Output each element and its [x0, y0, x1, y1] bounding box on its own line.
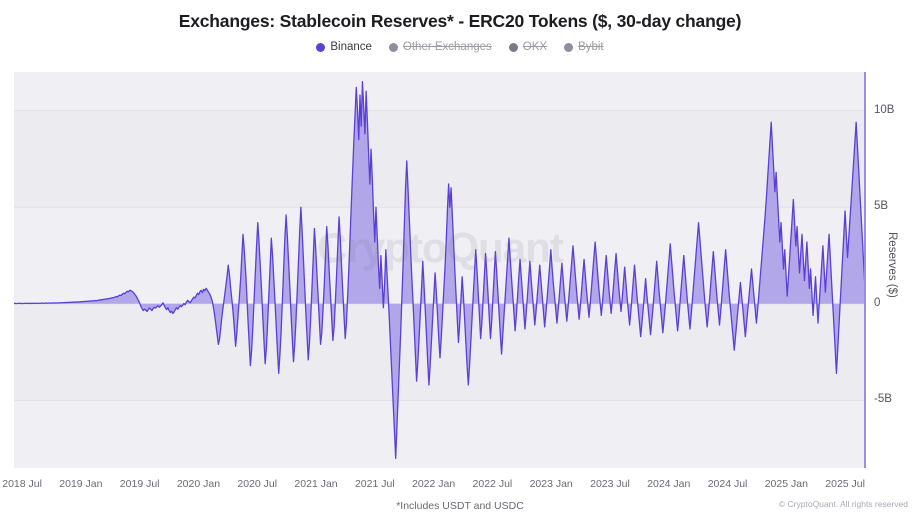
x-axis-labels: 2018 Jul2019 Jan2019 Jul2020 Jan2020 Jul…	[0, 478, 920, 494]
chart-legend: BinanceOther ExchangesOKXBybit	[0, 41, 920, 53]
chart-plot-svg	[14, 72, 866, 468]
x-axis-tick-label: 2021 Jan	[294, 478, 337, 490]
legend-item-okx[interactable]: OKX	[509, 41, 547, 53]
legend-item-label: OKX	[523, 41, 547, 53]
y-axis-tick-label: 10B	[874, 104, 894, 116]
y-axis-tick-label: -5B	[874, 393, 892, 405]
x-axis-tick-label: 2020 Jan	[177, 478, 220, 490]
legend-item-bybit[interactable]: Bybit	[564, 41, 604, 53]
legend-color-dot	[389, 43, 398, 52]
x-axis-tick-label: 2022 Jan	[412, 478, 455, 490]
x-axis-tick-label: 2021 Jul	[355, 478, 395, 490]
chart-title: Exchanges: Stablecoin Reserves* - ERC20 …	[0, 11, 920, 32]
y-axis-title: Reserves ($)	[886, 232, 898, 298]
copyright-notice: © CryptoQuant. All rights reserved	[779, 499, 908, 509]
x-axis-tick-label: 2024 Jul	[708, 478, 748, 490]
x-axis-tick-label: 2020 Jul	[237, 478, 277, 490]
x-axis-tick-label: 2024 Jan	[647, 478, 690, 490]
legend-color-dot	[316, 43, 325, 52]
plot-band	[14, 111, 866, 208]
x-axis-tick-label: 2019 Jul	[120, 478, 160, 490]
legend-item-label: Bybit	[578, 41, 604, 53]
plot-area: CryptoQuant	[14, 72, 866, 468]
y-axis-tick-label: 5B	[874, 200, 888, 212]
x-axis-tick-label: 2018 Jul	[2, 478, 42, 490]
y-axis-tick-label: 0	[874, 297, 880, 309]
x-axis-tick-label: 2023 Jul	[590, 478, 630, 490]
legend-item-other-exchanges[interactable]: Other Exchanges	[389, 41, 492, 53]
legend-item-label: Other Exchanges	[403, 41, 492, 53]
x-axis-tick-label: 2019 Jan	[59, 478, 102, 490]
legend-color-dot	[509, 43, 518, 52]
x-axis-tick-label: 2023 Jan	[530, 478, 573, 490]
legend-color-dot	[564, 43, 573, 52]
x-axis-tick-label: 2025 Jan	[765, 478, 808, 490]
legend-item-label: Binance	[330, 41, 372, 53]
x-axis-tick-label: 2025 Jul	[825, 478, 865, 490]
legend-item-binance[interactable]: Binance	[316, 41, 372, 53]
chart-card: Exchanges: Stablecoin Reserves* - ERC20 …	[0, 0, 920, 527]
x-axis-tick-label: 2022 Jul	[473, 478, 513, 490]
